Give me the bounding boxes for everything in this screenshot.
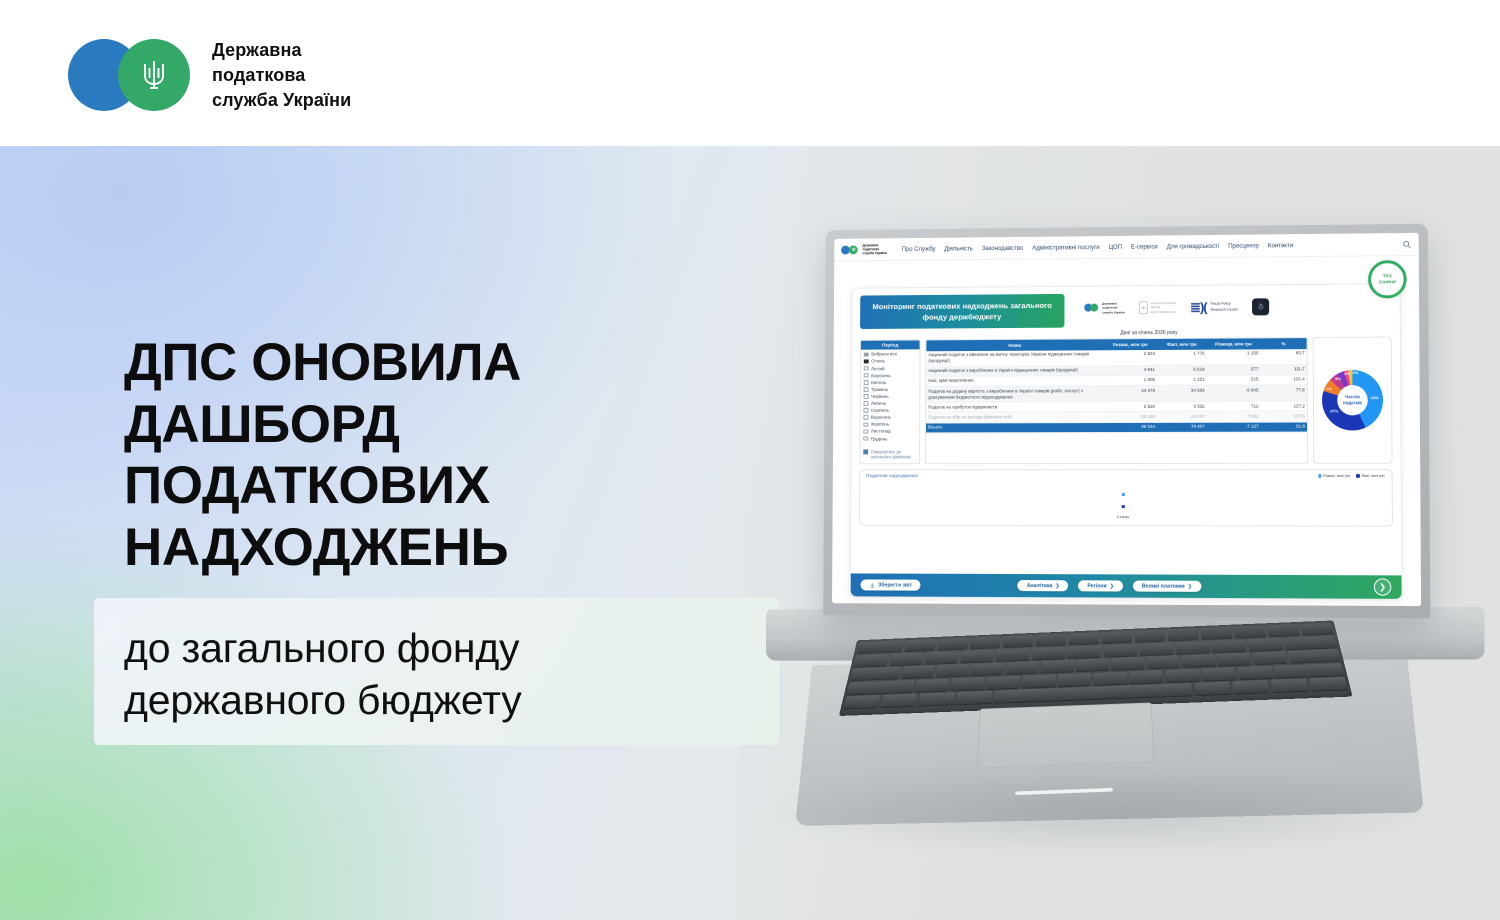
- subheadline-box: до загального фонду державного бюджету: [94, 598, 779, 745]
- period-month-gruden[interactable]: Грудень: [863, 436, 916, 441]
- period-month-label: Вересень: [871, 415, 891, 420]
- period-month-label: Жовтень: [871, 422, 889, 427]
- checkbox-icon[interactable]: [864, 359, 869, 364]
- chart-point-plan: [1122, 493, 1124, 496]
- donut-center-label: Частка податків: [1322, 370, 1383, 431]
- donut-pct-4: 5%: [1335, 376, 1341, 381]
- checkbox-icon[interactable]: [864, 373, 869, 378]
- table-total-row: Всього 86 534 79 407 -7 127 91,8: [926, 422, 1307, 433]
- period-month-sichen[interactable]: Січень: [864, 359, 917, 364]
- irf-dot: [1142, 306, 1145, 310]
- page-header: Державна податкова служба України: [0, 0, 1500, 146]
- period-month-cherven[interactable]: Червень: [864, 394, 917, 399]
- dashboard-card: Моніторинг податкових надходжень загальн…: [850, 283, 1403, 600]
- legend-swatch-icon: [1356, 474, 1359, 477]
- tax-control-badge[interactable]: TAX Control: [1368, 260, 1407, 298]
- donut-pct-3: 7%: [1326, 386, 1332, 391]
- nav-item-kontakty[interactable]: Контакти: [1268, 242, 1294, 249]
- cell-fact: 3 332: [1157, 401, 1207, 411]
- site-logo[interactable]: Державна податкова служба України: [841, 243, 887, 256]
- chart-point-fact: [1122, 505, 1124, 508]
- table-row[interactable]: Податок на додану вартість з вироблених …: [926, 385, 1307, 402]
- nav-item-admin-poslugy[interactable]: Адміністративні послуги: [1032, 244, 1099, 252]
- site-logo-line-3: служба України: [862, 251, 887, 255]
- legend-label-plan: Розпис, млн грн: [1323, 474, 1350, 478]
- laptop-trackpad: [977, 702, 1155, 768]
- donut-pct-5: 4%: [1344, 371, 1350, 376]
- search-icon[interactable]: [1402, 239, 1411, 248]
- period-month-label: Березень: [871, 373, 891, 378]
- chevron-right-icon: ❯: [1110, 583, 1114, 589]
- cell-pct: 111,7: [1260, 364, 1306, 374]
- checkbox-icon[interactable]: [863, 436, 868, 441]
- checkbox-icon[interactable]: [863, 429, 868, 434]
- period-month-label: Серпень: [871, 408, 889, 413]
- large-payers-button[interactable]: Великі платники ❯: [1133, 580, 1201, 592]
- period-month-traven[interactable]: Травень: [864, 387, 917, 392]
- period-month-label: Січень: [871, 359, 885, 364]
- partner-fprc-line-2: Research Center: [1211, 307, 1238, 312]
- nav-item-prescentr[interactable]: Пресцентр: [1228, 242, 1259, 249]
- checkbox-icon[interactable]: [864, 366, 869, 371]
- laptop-screen: Державна податкова служба України Про Сл…: [832, 233, 1421, 606]
- cell-total-name: Всього: [926, 422, 1104, 433]
- tax-control-line-2: Control: [1379, 279, 1396, 285]
- nav-item-pro-sluzhbu[interactable]: Про Службу: [902, 245, 936, 252]
- dps-logo-text: Державна податкова служба України: [212, 38, 351, 112]
- cell-fact: 34 534: [1157, 385, 1207, 401]
- regions-button[interactable]: Регіони ❯: [1078, 580, 1122, 591]
- cell-diff: -1 150: [1207, 349, 1261, 365]
- cell-plan: 4 941: [1104, 365, 1157, 375]
- checkbox-icon[interactable]: [864, 401, 869, 406]
- checkbox-icon[interactable]: [864, 387, 869, 392]
- period-month-label: Квітень: [871, 380, 886, 385]
- cell-fact: 5 518: [1157, 365, 1207, 375]
- period-select-all-label: Вибрати все: [871, 352, 897, 357]
- save-report-button[interactable]: Зберегти звіт: [860, 579, 920, 590]
- cell-plan: 44 379: [1104, 385, 1157, 401]
- revenue-chart-plot: Січень: [866, 479, 1386, 520]
- cell-fact: 1 221: [1157, 375, 1207, 385]
- org-line-3: служба України: [212, 88, 351, 113]
- cell-pct: 60,7: [1260, 349, 1306, 365]
- partner-logos: Державна податкова служба України: [1084, 298, 1269, 316]
- cell-name: Податок на прибуток підприємств: [926, 402, 1103, 413]
- partner-logo-irf: МІЖНАРОДНИЙ ФОНД ВІДРОДЖЕННЯ: [1139, 301, 1176, 314]
- dashboard-action-bar: Зберегти звіт Аналітика ❯ Регіони ❯: [851, 573, 1402, 598]
- fprc-mark-icon: ≣)(: [1190, 301, 1207, 314]
- partner-logo-dps: Державна податкова служба України: [1084, 302, 1125, 314]
- cell-name: Податок на додану вартість з вироблених …: [926, 386, 1103, 403]
- checkbox-icon[interactable]: [864, 380, 869, 385]
- col-header-plan[interactable]: Розпис, млн грн: [1104, 339, 1157, 350]
- checkbox-icon[interactable]: [863, 408, 868, 413]
- legend-swatch-icon: [1318, 474, 1321, 477]
- table-row[interactable]: Акцизний податок з ввезення на митну тер…: [926, 349, 1306, 367]
- save-report-label: Зберегти звіт: [878, 582, 912, 588]
- checkbox-icon[interactable]: [863, 450, 868, 455]
- nav-item-dlya-gromadskosti[interactable]: Для громадськості: [1167, 242, 1219, 249]
- period-month-label: Червень: [871, 394, 889, 399]
- cell-total-diff: -7 127: [1207, 422, 1261, 432]
- revenue-chart-legend: Розпис, млн грн Факт, млн грн: [1318, 474, 1385, 478]
- donut-center-line-2: податків: [1343, 400, 1362, 406]
- cell-pct: 127,2: [1261, 401, 1307, 411]
- cell-plan: 1 005: [1104, 375, 1157, 385]
- period-month-label: Липень: [871, 401, 886, 406]
- table-row[interactable]: Податок на збір на доходи фізичних осіб …: [926, 411, 1307, 422]
- chevron-right-icon: ❯: [1055, 583, 1059, 589]
- period-reset-control[interactable]: Повернутись до загального діапазону: [860, 446, 919, 463]
- period-month-zhovten[interactable]: Жовтень: [863, 422, 916, 427]
- nav-item-cop[interactable]: ЦОП: [1109, 243, 1122, 250]
- analytics-button[interactable]: Аналітика ❯: [1018, 580, 1069, 591]
- cell-diff: -9 845: [1207, 385, 1261, 401]
- partner-irf-line-3: ВІДРОДЖЕННЯ: [1151, 310, 1176, 315]
- legend-label-fact: Факт, млн грн: [1362, 474, 1385, 478]
- partner-irf-text: МІЖНАРОДНИЙ ФОНД ВІДРОДЖЕННЯ: [1151, 301, 1176, 314]
- legend-item-fact[interactable]: Факт, млн грн: [1356, 474, 1384, 478]
- period-month-list: Вибрати все Січень Лютий: [860, 350, 919, 443]
- chevron-right-icon: ❯: [1188, 583, 1192, 589]
- period-month-label: Лютий: [871, 366, 884, 371]
- cell-plan: 2 924: [1104, 349, 1157, 365]
- dashboard-main: Період Вибрати все Січень: [851, 337, 1400, 465]
- period-reset-label: Повернутись до загального діапазону: [871, 449, 917, 460]
- partner-logo-fprc: ≣)( Fiscal Policy Research Center: [1190, 301, 1238, 314]
- period-select-all[interactable]: Вибрати все: [864, 352, 917, 357]
- cell-pct: 121,4: [1260, 375, 1306, 385]
- period-month-lyutyi[interactable]: Лютий: [864, 366, 917, 371]
- period-month-berezen[interactable]: Березень: [864, 373, 917, 378]
- regions-label: Регіони: [1087, 583, 1106, 589]
- checkbox-icon[interactable]: [863, 422, 868, 427]
- cell-name: Податок на збір на доходи фізичних осіб: [926, 412, 1104, 423]
- site-logo-circle-green: [849, 245, 858, 254]
- period-month-kviten[interactable]: Квітень: [864, 380, 917, 385]
- donut-pct-2: 37%: [1330, 408, 1338, 413]
- trident-icon: [851, 247, 855, 253]
- trident-icon: [141, 57, 167, 93]
- cell-pct: 77,8: [1260, 385, 1306, 401]
- partner-dps-text: Державна податкова служба України: [1102, 302, 1125, 314]
- large-payers-label: Великі платники: [1142, 583, 1185, 589]
- legend-item-plan[interactable]: Розпис, млн грн: [1318, 474, 1350, 478]
- cell-total-fact: 79 407: [1157, 422, 1207, 432]
- cell-diff: 3 062: [1207, 411, 1261, 421]
- irf-mark-icon: [1139, 301, 1148, 314]
- period-month-lystopad[interactable]: Листопад: [863, 429, 916, 434]
- site-logo-text: Державна податкова служба України: [862, 243, 887, 256]
- donut-pct-1: 43%: [1371, 395, 1379, 400]
- checkbox-icon[interactable]: [863, 415, 868, 420]
- org-line-1: Державна: [212, 38, 351, 63]
- cell-fact: 1 775: [1157, 349, 1207, 365]
- laptop-lid: Державна податкова служба України Про Сл…: [823, 224, 1430, 619]
- site-body: TAX Control Моніторинг податкових надход…: [832, 256, 1421, 606]
- period-month-label: Грудень: [871, 436, 888, 441]
- page-title: ДПС ОНОВИЛА ДАШБОРД ПОДАТКОВИХ НАДХОДЖЕН…: [124, 332, 521, 579]
- cell-name: Інші, крім перелічених: [926, 375, 1103, 386]
- cell-diff: 215: [1207, 375, 1261, 385]
- checkbox-icon[interactable]: [864, 394, 869, 399]
- poster-canvas: ДПС ОНОВИЛА ДАШБОРД ПОДАТКОВИХ НАДХОДЖЕН…: [0, 146, 1500, 920]
- nav-item-e-servisy[interactable]: Е-сервіси: [1131, 243, 1158, 250]
- cell-diff: 712: [1207, 401, 1261, 411]
- period-month-serpen[interactable]: Серпень: [863, 408, 916, 413]
- next-page-button[interactable]: ❯: [1374, 578, 1391, 595]
- cell-total-pct: 91,8: [1261, 422, 1307, 432]
- laptop-shadow: [780, 766, 1440, 856]
- period-month-veresen[interactable]: Вересень: [863, 415, 916, 420]
- pulse-icon: ☃: [1252, 298, 1269, 315]
- cell-plan: 22 185: [1104, 412, 1157, 422]
- checkbox-icon[interactable]: [864, 352, 869, 357]
- cell-name: Акцизний податок з ввезення на митну тер…: [926, 350, 1103, 366]
- logo-circles: [68, 39, 176, 111]
- cell-fact: 26 247: [1157, 412, 1207, 422]
- download-icon: [869, 582, 875, 588]
- dps-logo: Державна податкова служба України: [68, 38, 351, 112]
- logo-circle-green: [118, 39, 190, 111]
- revenue-chart-card: Податкові надходження Розпис, млн грн Фа…: [859, 469, 1393, 527]
- logo-circle-green: [1090, 304, 1098, 312]
- subheadline: до загального фонду державного бюджету: [124, 622, 522, 727]
- tax-revenue-table: Назва Розпис, млн грн Факт, млн грн Різн…: [925, 337, 1308, 464]
- col-header-diff[interactable]: Різниця, млн грн: [1207, 338, 1261, 349]
- col-header-pct[interactable]: %: [1260, 338, 1306, 349]
- analytics-label: Аналітика: [1027, 583, 1053, 589]
- chart-x-tick-label: Січень: [1117, 514, 1129, 519]
- dashboard-title: Моніторинг податкових надходжень загальн…: [860, 294, 1064, 329]
- tax-share-donut-card: Частка податків 43% 37% 7% 5% 4% 2%: [1313, 337, 1393, 464]
- period-month-lypen[interactable]: Липень: [864, 401, 917, 406]
- dashboard-header: Моніторинг податкових надходжень загальн…: [852, 284, 1400, 331]
- period-month-label: Травень: [871, 387, 888, 392]
- period-month-label: Листопад: [871, 429, 891, 434]
- nav-item-diyalnist[interactable]: Діяльність: [944, 245, 973, 252]
- period-filter-panel: Період Вибрати все Січень: [859, 339, 920, 464]
- cell-plan: 2 620: [1104, 401, 1157, 411]
- period-filter-header: Період: [861, 340, 920, 350]
- cell-total-plan: 86 534: [1104, 422, 1157, 432]
- partner-dps-line-3: служба України: [1102, 310, 1125, 314]
- col-header-fact[interactable]: Факт, млн грн: [1157, 339, 1207, 350]
- laptop-mockup: Державна податкова служба України Про Сл…: [760, 226, 1480, 920]
- cell-pct: 107,6: [1261, 411, 1307, 421]
- nav-item-zakonodavstvo[interactable]: Законодавство: [982, 244, 1024, 251]
- partner-fprc-text: Fiscal Policy Research Center: [1211, 302, 1238, 313]
- org-line-2: податкова: [212, 63, 351, 88]
- site-nav-items: Про Службу Діяльність Законодавство Адмі…: [902, 242, 1294, 253]
- donut-pct-6: 2%: [1352, 370, 1358, 375]
- cell-diff: 577: [1207, 364, 1261, 374]
